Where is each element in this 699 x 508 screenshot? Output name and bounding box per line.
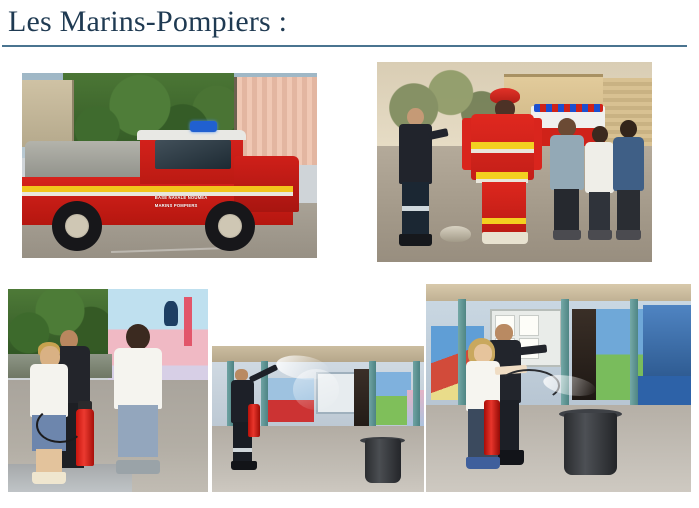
girl-extinguisher-photo — [426, 284, 691, 492]
second-child-trousers — [118, 405, 158, 458]
second-child-head — [126, 324, 150, 350]
mural-figure — [164, 301, 178, 325]
support-column — [413, 361, 420, 434]
student-shoes — [553, 230, 581, 240]
extinguisher-spray-cloud — [293, 369, 340, 410]
boy-legs — [36, 449, 62, 473]
second-child-shoes — [116, 460, 160, 474]
firefighter-reflective-band — [233, 448, 252, 452]
fire-extinguisher — [484, 400, 500, 454]
student-shoes — [588, 230, 612, 239]
student-head — [558, 118, 576, 137]
notice-sheet — [519, 315, 540, 336]
mural-accent — [184, 297, 192, 346]
target-bin — [564, 413, 617, 475]
truck-hood — [234, 156, 299, 212]
truck-front-wheel — [205, 201, 255, 251]
truck-marking-line2: MARINS POMPIERS — [155, 203, 198, 208]
truck-window — [155, 140, 232, 170]
support-column — [458, 299, 466, 411]
boy-shoes — [32, 472, 66, 484]
turnout-boots — [482, 232, 529, 244]
turnout-coat-band-lower — [476, 172, 528, 179]
title-divider — [2, 45, 687, 47]
kids-scene — [8, 289, 208, 492]
student-figure — [611, 120, 647, 242]
firefighter-spraying-photo — [212, 346, 424, 492]
helmet-on-ground — [440, 226, 470, 242]
turnout-coat-band-upper — [471, 142, 534, 149]
wet-pavement — [8, 464, 132, 492]
student-torso — [550, 135, 584, 190]
firefighter-gear-demo-photo — [377, 62, 652, 262]
student-legs — [589, 192, 610, 231]
spray-scene — [212, 346, 424, 492]
turnout-trousers-band — [482, 218, 526, 224]
left-building — [22, 80, 74, 147]
truck-rear-wheel — [52, 201, 102, 251]
girl-scene — [426, 284, 691, 492]
right-building — [234, 77, 317, 166]
student-legs — [554, 189, 579, 231]
support-column — [369, 361, 376, 434]
student-legs — [617, 190, 640, 231]
student-torso — [613, 137, 644, 191]
turnout-trousers — [482, 182, 526, 234]
truck-scene: BASE NAVALE NOUMEA MARINS POMPIERS — [22, 73, 317, 258]
firefighter-boots — [231, 461, 256, 470]
demo-scene — [377, 62, 652, 262]
extinguisher-hose — [36, 407, 84, 443]
fire-truck-photo: BASE NAVALE NOUMEA MARINS POMPIERS — [22, 73, 317, 258]
school-mural-right — [373, 372, 411, 425]
student-shoes — [616, 230, 642, 240]
instructor-boots — [399, 234, 432, 246]
student-head — [620, 120, 637, 138]
instructor-torso — [399, 124, 432, 184]
target-bin — [365, 439, 401, 483]
school-mural-upper-right — [643, 305, 691, 376]
turnout-coat-band-upper-white — [471, 149, 534, 153]
support-column — [630, 299, 638, 411]
truck-marking-line1: BASE NAVALE NOUMEA — [155, 195, 208, 200]
fire-extinguisher — [248, 404, 260, 436]
student-head — [592, 126, 608, 143]
fire-engine-lightbar — [534, 104, 603, 112]
student-figure — [548, 118, 587, 242]
emergency-light-icon — [190, 121, 217, 132]
instructor-reflective-band — [402, 206, 430, 211]
children-extinguisher-photo — [8, 289, 208, 492]
page-title: Les Marins-Pompiers : — [8, 4, 287, 40]
second-child-shirt — [114, 348, 162, 409]
girl-shoes — [466, 457, 500, 469]
ground-surface — [426, 405, 691, 492]
